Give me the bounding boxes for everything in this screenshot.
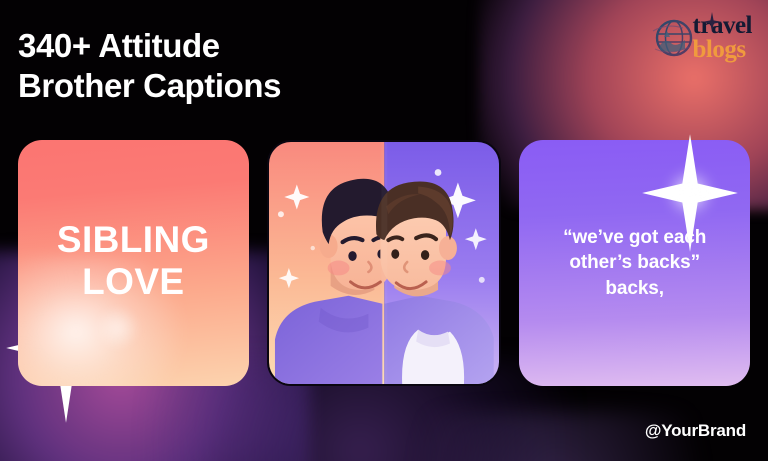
logo-word-blogs: blogs: [693, 38, 752, 61]
brand-handle: @YourBrand: [645, 421, 746, 441]
brothers-illustration: [269, 142, 500, 384]
page-title: 340+ Attitude Brother Captions: [18, 26, 281, 107]
card-brothers-illustration[interactable]: [267, 140, 502, 386]
logo-word-travel: travel: [693, 14, 752, 37]
card-sibling-love-text: SIBLING LOVE: [18, 219, 249, 303]
poster-canvas: 340+ Attitude Brother Captions: [0, 0, 768, 461]
globe-icon: [651, 15, 697, 61]
card-row: SIBLING LOVE: [18, 140, 750, 386]
card-sibling-love[interactable]: SIBLING LOVE: [18, 140, 249, 386]
card-light-dot: [96, 306, 140, 350]
logo-wordmark: travel blogs: [693, 14, 752, 61]
card-quote-text: “we’ve got each other’s backs” backs,: [519, 225, 750, 301]
travel-blogs-logo[interactable]: travel blogs: [651, 14, 752, 61]
card-quote[interactable]: “we’ve got each other’s backs” backs,: [519, 140, 750, 386]
